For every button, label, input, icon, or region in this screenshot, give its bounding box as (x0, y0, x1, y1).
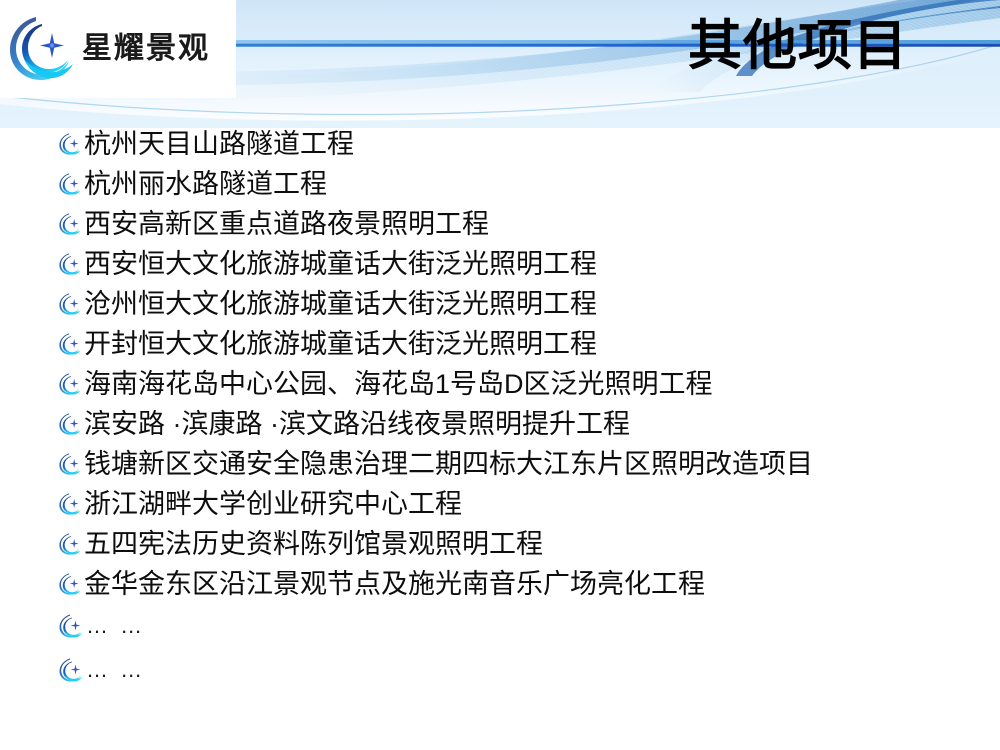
list-item-label: 杭州丽水路隧道工程 (84, 166, 327, 202)
crescent-star-bullet-icon (58, 613, 84, 639)
crescent-star-bullet-icon (58, 292, 82, 316)
list-item[interactable]: … … (58, 650, 988, 694)
list-item-label: 沧州恒大文化旅游城童话大街泛光照明工程 (84, 286, 597, 322)
list-item-label: 海南海花岛中心公园、海花岛1号岛D区泛光照明工程 (84, 366, 713, 402)
list-item[interactable]: 滨安路 ·滨康路 ·滨文路沿线夜景照明提升工程 (58, 406, 988, 446)
list-item[interactable]: 杭州丽水路隧道工程 (58, 166, 988, 206)
page-title: 其他项目 (688, 17, 908, 76)
crescent-star-bullet-icon (58, 132, 82, 156)
list-item-label: 杭州天目山路隧道工程 (84, 126, 354, 162)
list-item-label: 钱塘新区交通安全隐患治理二期四标大江东片区照明改造项目 (84, 446, 813, 482)
crescent-star-bullet-icon (58, 212, 82, 236)
list-item-label: … … (86, 606, 145, 646)
list-item[interactable]: 浙江湖畔大学创业研究中心工程 (58, 486, 988, 526)
crescent-star-bullet-icon (58, 452, 82, 476)
project-list: 杭州天目山路隧道工程 杭州丽水路隧道工程 (58, 126, 988, 694)
list-item[interactable]: 杭州天目山路隧道工程 (58, 126, 988, 166)
crescent-star-bullet-icon (58, 172, 82, 196)
crescent-star-bullet-icon (58, 372, 82, 396)
crescent-star-bullet-icon (58, 532, 82, 556)
crescent-star-logo-icon (6, 13, 78, 85)
list-item-label: 西安高新区重点道路夜景照明工程 (84, 206, 489, 242)
list-item-label: 金华金东区沿江景观节点及施光南音乐广场亮化工程 (84, 566, 705, 602)
crescent-star-bullet-icon (58, 252, 82, 276)
list-item-label: 西安恒大文化旅游城童话大街泛光照明工程 (84, 246, 597, 282)
list-item[interactable]: 钱塘新区交通安全隐患治理二期四标大江东片区照明改造项目 (58, 446, 988, 486)
crescent-star-bullet-icon (58, 492, 82, 516)
list-item[interactable]: 开封恒大文化旅游城童话大街泛光照明工程 (58, 326, 988, 366)
crescent-star-bullet-icon (58, 657, 84, 683)
brand-logo-plate: 星耀景观 (0, 0, 236, 98)
list-item[interactable]: 西安恒大文化旅游城童话大街泛光照明工程 (58, 246, 988, 286)
list-item[interactable]: 海南海花岛中心公园、海花岛1号岛D区泛光照明工程 (58, 366, 988, 406)
list-item[interactable]: 金华金东区沿江景观节点及施光南音乐广场亮化工程 (58, 566, 988, 606)
list-item[interactable]: … … (58, 606, 988, 650)
brand-name: 星耀景观 (82, 34, 210, 64)
list-item[interactable]: 沧州恒大文化旅游城童话大街泛光照明工程 (58, 286, 988, 326)
list-item-label: 开封恒大文化旅游城童话大街泛光照明工程 (84, 326, 597, 362)
list-item-label: 浙江湖畔大学创业研究中心工程 (84, 486, 462, 522)
list-item-label: … … (86, 650, 145, 690)
crescent-star-bullet-icon (58, 412, 82, 436)
list-item[interactable]: 西安高新区重点道路夜景照明工程 (58, 206, 988, 246)
list-item-label: 滨安路 ·滨康路 ·滨文路沿线夜景照明提升工程 (84, 406, 630, 442)
presentation-slide: 星耀景观 其他项目 杭州天目山路隧道工程 (0, 0, 1000, 750)
list-item-label: 五四宪法历史资料陈列馆景观照明工程 (84, 526, 543, 562)
crescent-star-bullet-icon (58, 332, 82, 356)
crescent-star-bullet-icon (58, 572, 82, 596)
list-item[interactable]: 五四宪法历史资料陈列馆景观照明工程 (58, 526, 988, 566)
